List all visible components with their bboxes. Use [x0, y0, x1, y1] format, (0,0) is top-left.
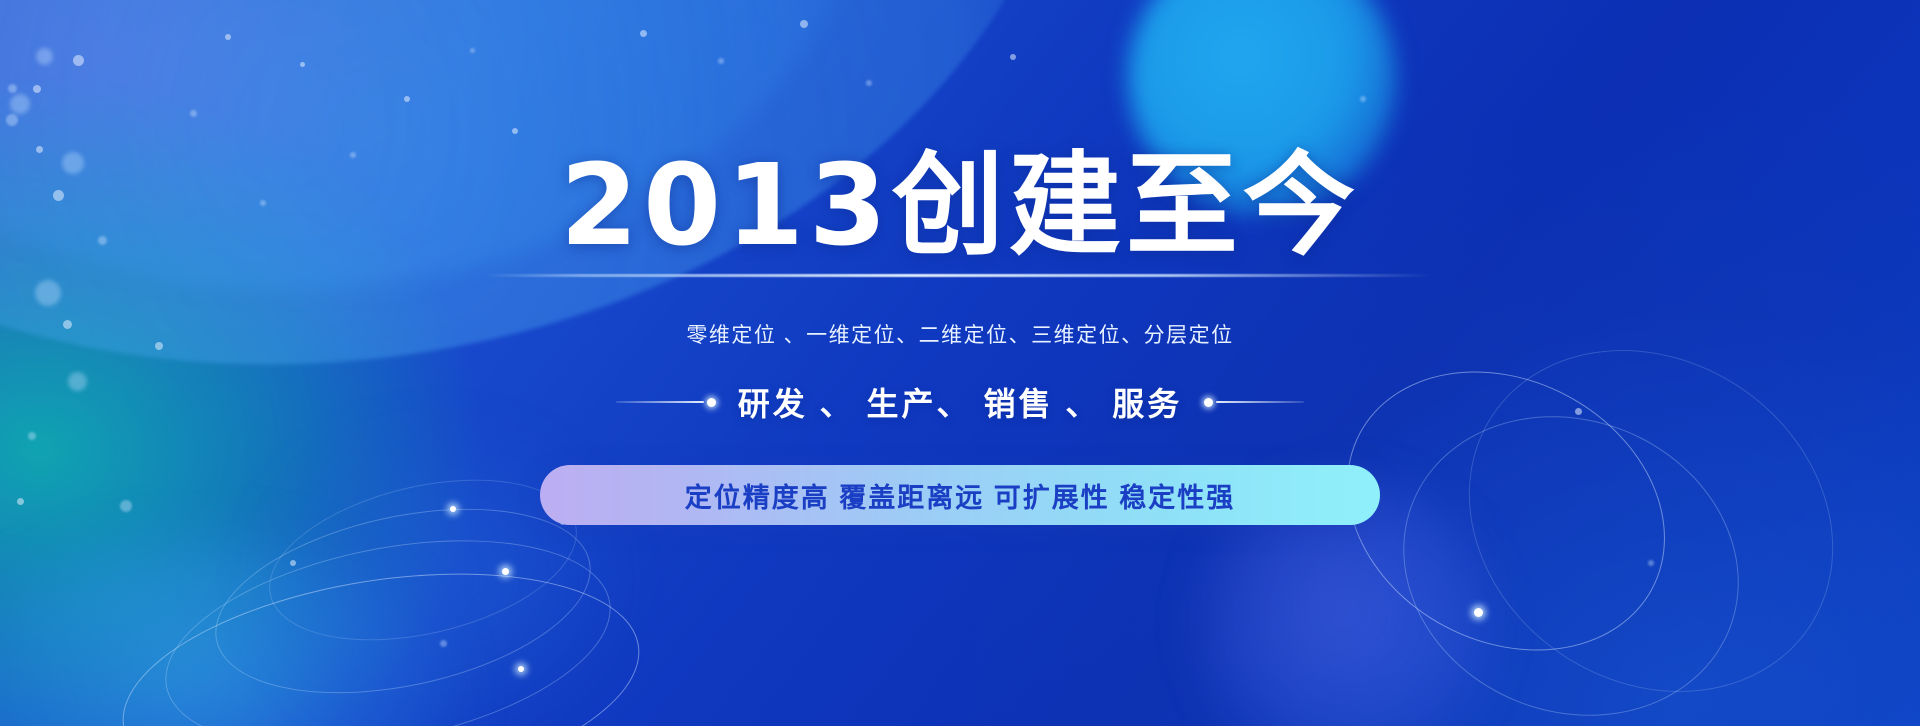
hero-banner: 2013创建至今 零维定位 、一维定位、二维定位、三维定位、分层定位 研发 、 …: [0, 0, 1920, 726]
business-pillars-row: 研发 、 生产、 销售 、 服务: [616, 379, 1304, 425]
feature-highlights-pill: 定位精度高 覆盖距离远 可扩展性 稳定性强: [540, 465, 1380, 525]
business-pillars-text: 研发 、 生产、 销售 、 服务: [738, 379, 1182, 425]
decorative-line-right: [1204, 398, 1304, 407]
banner-content: 2013创建至今 零维定位 、一维定位、二维定位、三维定位、分层定位 研发 、 …: [0, 0, 1920, 726]
decorative-bar-icon: [616, 401, 704, 403]
subtitle-positioning-types: 零维定位 、一维定位、二维定位、三维定位、分层定位: [686, 319, 1233, 349]
decorative-bar-icon: [1216, 401, 1304, 403]
decorative-line-left: [616, 398, 716, 407]
title-underline-divider: [485, 274, 1435, 277]
feature-highlights-text: 定位精度高 覆盖距离远 可扩展性 稳定性强: [685, 476, 1236, 515]
page-title: 2013创建至今: [560, 148, 1360, 264]
decorative-dot-icon: [1204, 398, 1213, 407]
decorative-dot-icon: [707, 398, 716, 407]
